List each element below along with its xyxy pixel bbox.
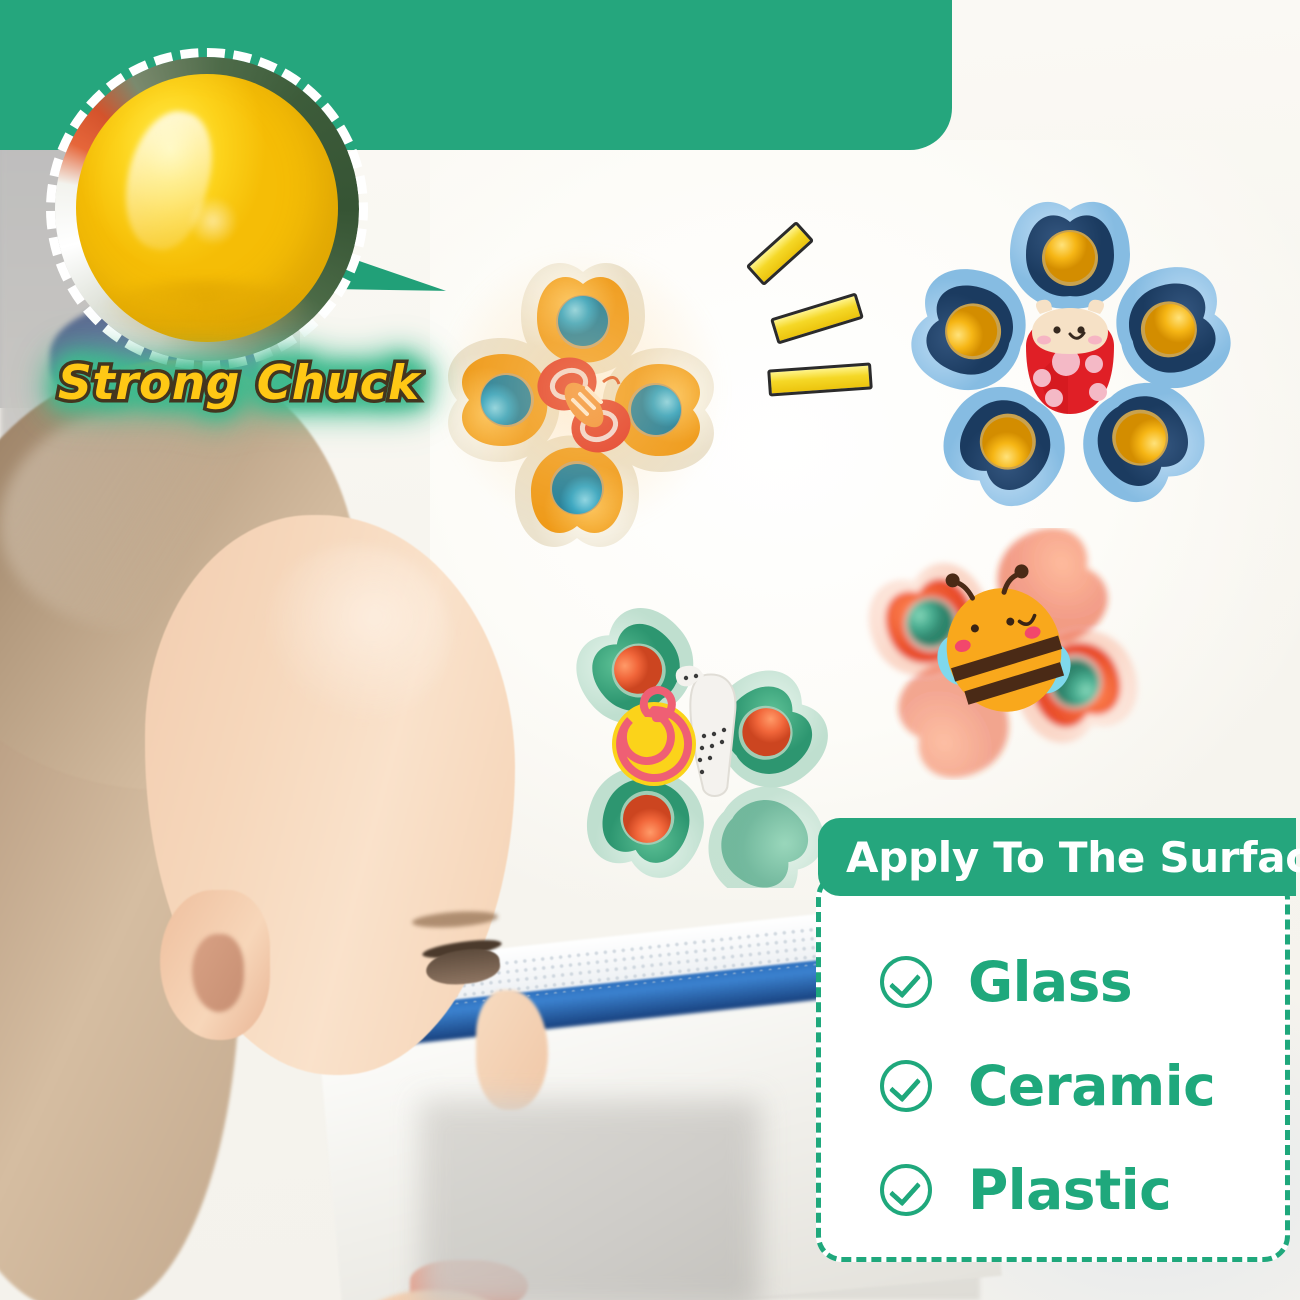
nose — [476, 990, 548, 1110]
foreground-blur — [420, 1100, 760, 1300]
face-highlight — [260, 545, 450, 725]
surface-list: Glass Ceramic Plastic — [880, 930, 1215, 1242]
suction-cup-magnifier — [46, 48, 368, 370]
toy-bee-spinner — [848, 528, 1156, 780]
surface-panel-header: Apply To The Surface — [818, 818, 1296, 896]
check-circle-icon — [880, 956, 932, 1008]
list-item: Ceramic — [880, 1034, 1215, 1138]
check-circle-icon — [880, 1164, 932, 1216]
surface-panel-title: Apply To The Surface — [818, 833, 1300, 882]
magnifier-dashed-ring — [46, 48, 368, 370]
list-item: Glass — [880, 930, 1215, 1034]
toy-snail-svg — [548, 588, 848, 888]
toy-butterfly-spinner — [425, 232, 741, 552]
check-circle-icon — [880, 1060, 932, 1112]
toy-bee-svg — [848, 528, 1156, 780]
surface-item-label: Plastic — [968, 1158, 1171, 1222]
toy-snail-spinner — [548, 588, 848, 888]
strong-chuck-badge: Strong Chuck — [36, 348, 442, 419]
product-infographic: Cognitive Ability Strong Chuck Apply To … — [0, 0, 1300, 1300]
surface-item-label: Glass — [968, 950, 1132, 1014]
toy-ladybug-spinner — [905, 182, 1235, 512]
toy-glow — [433, 240, 733, 540]
ear-inner — [192, 934, 244, 1012]
toy-ladybug-svg — [905, 182, 1235, 512]
list-item: Plastic — [880, 1138, 1215, 1242]
surface-item-label: Ceramic — [968, 1054, 1215, 1118]
